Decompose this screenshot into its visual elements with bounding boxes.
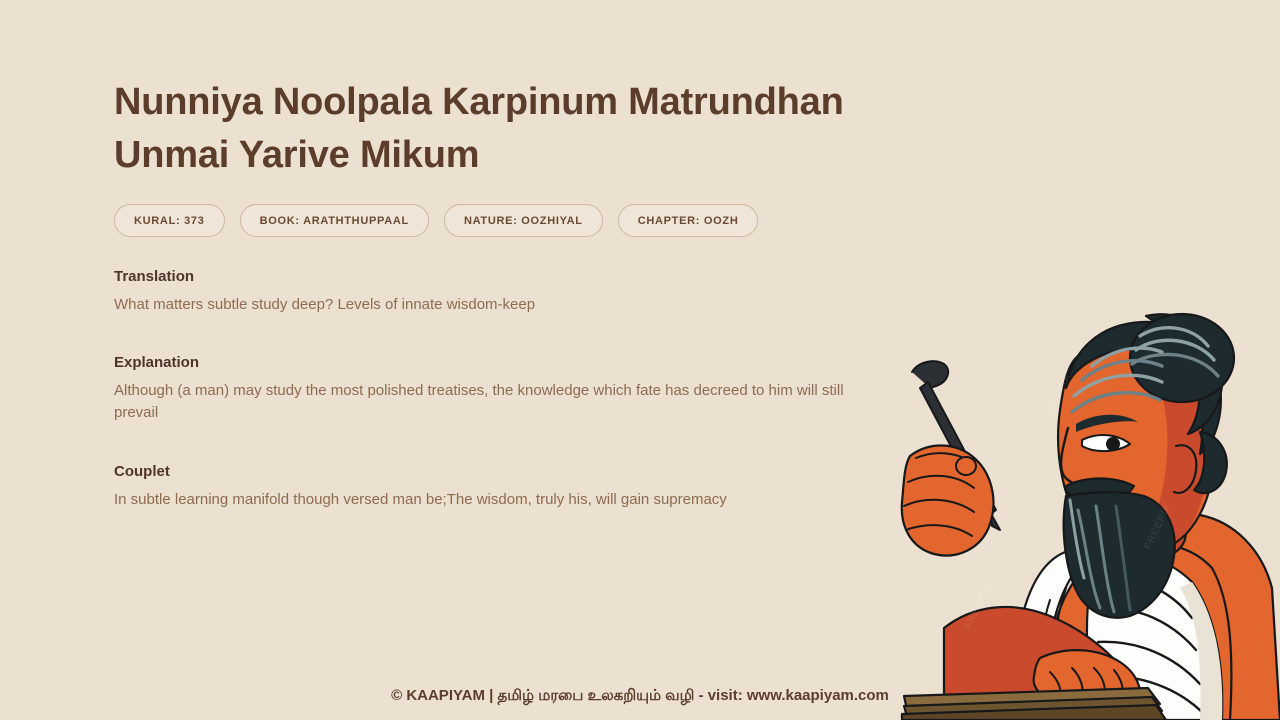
- section-explanation: Explanation Although (a man) may study t…: [114, 354, 874, 424]
- explanation-heading: Explanation: [114, 354, 874, 371]
- hair-bun-mass: [1130, 314, 1234, 402]
- chip-book[interactable]: BOOK: ARATHTHUPPAAL: [240, 204, 429, 237]
- chip-kural[interactable]: KURAL: 373: [114, 204, 225, 237]
- metadata-chip-row: KURAL: 373 BOOK: ARATHTHUPPAAL NATURE: O…: [114, 204, 758, 237]
- couplet-text: In subtle learning manifold though verse…: [114, 489, 844, 511]
- beard: [1064, 492, 1175, 618]
- hair-bun: [1146, 314, 1222, 434]
- translation-heading: Translation: [114, 268, 874, 285]
- neck: [1110, 496, 1186, 560]
- thiruvalluvar-sage-illustration: FREEPIK FREEPIK FREEPIK FREEPIK: [900, 300, 1280, 720]
- svg-text:FREEPIK: FREEPIK: [1043, 371, 1074, 421]
- svg-text:FREEPIK: FREEPIK: [1143, 501, 1174, 551]
- nose: [1061, 428, 1088, 484]
- footer-credit: © KAAPIYAM | தமிழ் மரபை உலகறியும் வழி - …: [0, 687, 1280, 706]
- section-translation: Translation What matters subtle study de…: [114, 268, 874, 316]
- eye: [1082, 435, 1130, 451]
- ear: [1174, 445, 1196, 493]
- svg-text:FREEPIK: FREEPIK: [1193, 631, 1224, 681]
- couplet-heading: Couplet: [114, 463, 874, 480]
- page-title: Nunniya Noolpala Karpinum Matrundhan Unm…: [114, 76, 874, 182]
- hair-side-lock: [1194, 432, 1227, 493]
- hair: [1066, 322, 1221, 454]
- translation-text: What matters subtle study deep? Levels o…: [114, 294, 844, 316]
- svg-text:FREEPIK: FREEPIK: [963, 581, 994, 631]
- content-column: Nunniya Noolpala Karpinum Matrundhan Unm…: [114, 0, 914, 720]
- stylus: [912, 361, 1000, 530]
- left-fist: [902, 446, 994, 556]
- chip-chapter[interactable]: CHAPTER: OOZH: [618, 204, 759, 237]
- head: [1058, 348, 1214, 556]
- kural-card: FREEPIK FREEPIK FREEPIK FREEPIK Nunniya …: [0, 0, 1280, 720]
- section-couplet: Couplet In subtle learning manifold thou…: [114, 463, 874, 511]
- chip-nature[interactable]: NATURE: OOZHIYAL: [444, 204, 603, 237]
- moustache: [1066, 479, 1134, 503]
- explanation-text: Although (a man) may study the most poli…: [114, 380, 844, 424]
- eyebrow: [1076, 415, 1138, 432]
